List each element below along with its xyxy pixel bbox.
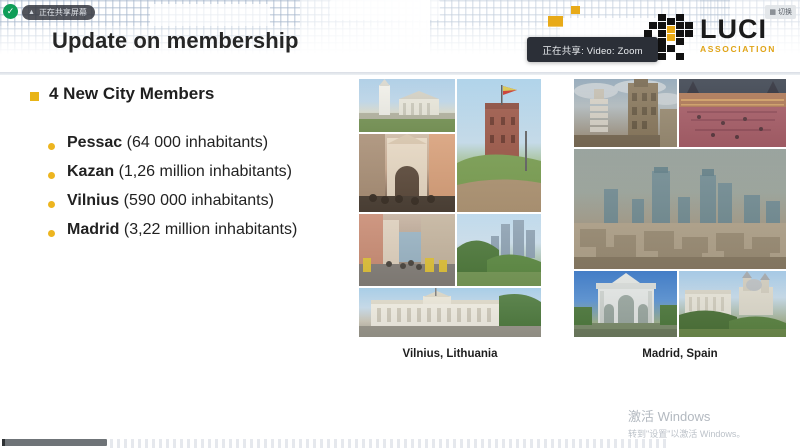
screen-share-viewport: Update on membership: [0, 0, 800, 448]
watermark-title: 激活 Windows: [628, 409, 788, 425]
luci-wordmark: LUCI ASSOCIATION: [700, 16, 792, 54]
caret-up-icon: ▲: [28, 9, 35, 16]
share-status-pill[interactable]: ▲ 正在共享屏幕: [22, 5, 95, 20]
share-pill-label: 正在共享屏幕: [39, 7, 87, 18]
puerta-de-alcala-photo: [574, 271, 677, 337]
vilnius-cathedral-belfry-photo: [359, 79, 455, 132]
member-detail: (3,22 million inhabitants): [119, 221, 297, 238]
bottom-progress-handle[interactable]: [2, 439, 5, 446]
round-bullet-icon: [48, 230, 55, 237]
header-accent-square: [571, 6, 580, 14]
round-bullet-icon: [48, 172, 55, 179]
list-item: Vilnius (590 000 inhabitants): [48, 192, 360, 210]
luci-logo: LUCI ASSOCIATION: [644, 14, 792, 60]
recording-dot-icon[interactable]: ✓: [3, 4, 18, 19]
header-highlight: [150, 4, 270, 26]
page-title: Update on membership: [52, 28, 298, 54]
member-entry: Vilnius (590 000 inhabitants): [67, 192, 274, 210]
member-entry: Madrid (3,22 million inhabitants): [67, 221, 297, 239]
madrid-caption: Madrid, Spain: [574, 348, 786, 360]
luci-name: LUCI: [700, 16, 792, 43]
round-bullet-icon: [48, 143, 55, 150]
list-item: Pessac (64 000 inhabitants): [48, 134, 360, 152]
presidential-palace-photo: [359, 288, 541, 337]
heading-bullet-row: 4 New City Members: [30, 84, 360, 104]
gate-of-dawn-street-photo: [359, 134, 455, 212]
plaza-mayor-photo: [679, 79, 786, 147]
list-item: Madrid (3,22 million inhabitants): [48, 221, 360, 239]
square-bullet-icon: [30, 92, 39, 101]
round-bullet-icon: [48, 201, 55, 208]
gran-via-buildings-photo: [574, 79, 677, 147]
vilnius-caption: Vilnius, Lithuania: [359, 348, 541, 360]
header-divider: [0, 72, 800, 75]
member-entry: Kazan (1,26 million inhabitants): [67, 163, 292, 181]
vilnius-photo-collage: [359, 79, 541, 335]
share-tooltip: 正在共享: Video: Zoom: [527, 37, 658, 62]
gediminas-tower-photo: [457, 79, 541, 212]
member-entry: Pessac (64 000 inhabitants): [67, 134, 268, 152]
bottom-progress-bar[interactable]: [2, 439, 107, 446]
member-city: Madrid: [67, 221, 119, 238]
pilies-street-photo: [359, 214, 455, 286]
madrid-photo-collage: [574, 79, 786, 335]
member-detail: (590 000 inhabitants): [119, 192, 274, 209]
list-item: Kazan (1,26 million inhabitants): [48, 163, 360, 181]
header-highlight: [330, 0, 440, 20]
member-city: Vilnius: [67, 192, 119, 209]
member-detail: (64 000 inhabitants): [122, 134, 268, 151]
member-detail: (1,26 million inhabitants): [114, 163, 292, 180]
royal-palace-almudena-photo: [679, 271, 786, 337]
slide-body: 4 New City Members Pessac (64 000 inhabi…: [30, 84, 360, 250]
member-list: Pessac (64 000 inhabitants) Kazan (1,26 …: [48, 134, 360, 239]
luci-subtitle: ASSOCIATION: [700, 44, 792, 54]
member-city: Pessac: [67, 134, 122, 151]
heading-bullet-label: 4 New City Members: [49, 84, 214, 104]
window-chip-label: 切换: [778, 7, 792, 17]
windows-activation-watermark: 激活 Windows 转到"设置"以激活 Windows。: [628, 409, 788, 440]
madrid-skyline-photo: [574, 149, 786, 269]
window-icon: ▦: [769, 8, 776, 16]
vilnius-skyline-photo: [457, 214, 541, 286]
share-tooltip-text: 正在共享: Video: Zoom: [542, 43, 642, 57]
member-city: Kazan: [67, 163, 114, 180]
bottom-texture: [110, 439, 670, 448]
window-switch-chip[interactable]: ▦ 切换: [765, 5, 796, 19]
